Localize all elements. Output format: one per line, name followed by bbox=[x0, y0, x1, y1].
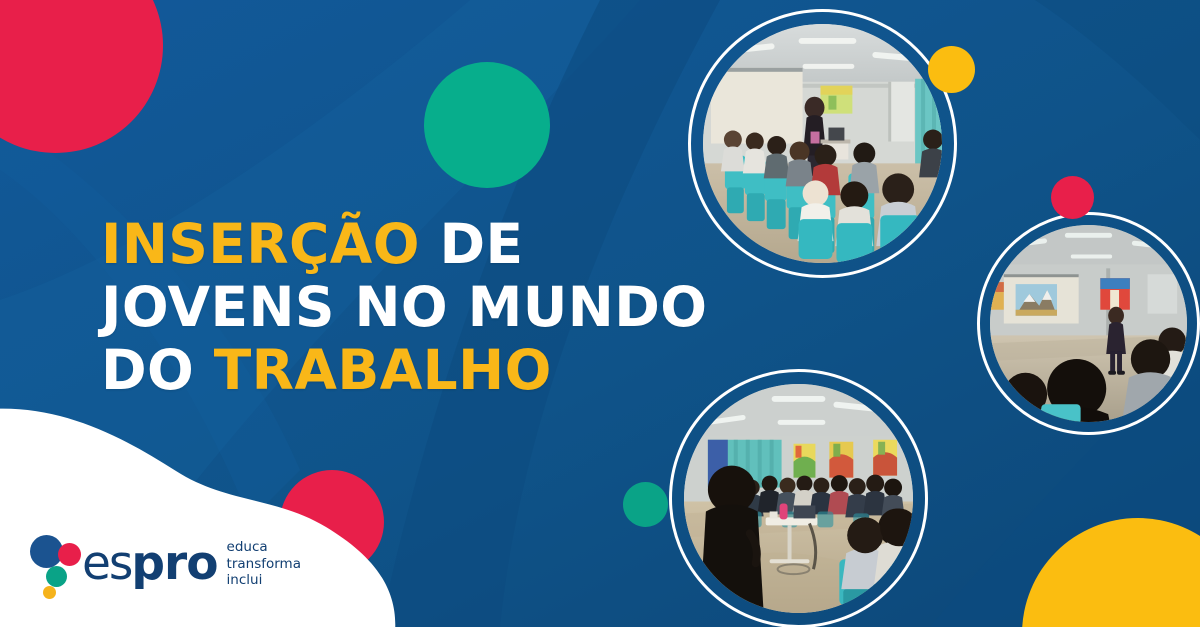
espro-logo-dots bbox=[30, 531, 86, 597]
espro-wordmark: espro bbox=[82, 542, 218, 585]
accent-dot-red bbox=[1051, 176, 1094, 219]
photo-circle-discussion bbox=[684, 384, 913, 613]
espro-logo[interactable]: espro educa transforma inclui bbox=[30, 531, 301, 597]
espro-tagline-educa: educa bbox=[227, 539, 301, 555]
headline-accent-insercao: INSERÇÃO bbox=[101, 212, 420, 276]
accent-dot-yellow bbox=[928, 46, 975, 93]
accent-dot-teal bbox=[623, 482, 668, 527]
espro-tagline: educa transforma inclui bbox=[227, 539, 301, 588]
headline-accent-trabalho: TRABALHO bbox=[214, 338, 552, 402]
headline-line-2: JOVENS NO MUNDO bbox=[101, 276, 707, 339]
logo-dot-teal-icon bbox=[46, 566, 67, 587]
circle-teal-top bbox=[424, 62, 550, 188]
espro-wordmark-light: es bbox=[82, 536, 131, 591]
espro-tagline-inclui: inclui bbox=[227, 572, 301, 588]
espro-wordmark-bold: pro bbox=[131, 536, 217, 591]
photo-projector-presentation bbox=[990, 225, 1187, 422]
page-title: INSERÇÃO DE JOVENS NO MUNDO DO TRABALHO bbox=[101, 213, 707, 402]
headline-do: DO bbox=[101, 338, 214, 402]
headline-line-3: DO TRABALHO bbox=[101, 339, 707, 402]
headline-line-1: INSERÇÃO DE bbox=[101, 213, 707, 276]
headline-de: DE bbox=[420, 212, 524, 276]
espro-tagline-transforma: transforma bbox=[227, 556, 301, 572]
photo-classroom-rows bbox=[703, 24, 942, 263]
logo-dot-red-icon bbox=[58, 543, 81, 566]
logo-dot-yellow-icon bbox=[43, 586, 56, 599]
promotional-banner: INSERÇÃO DE JOVENS NO MUNDO DO TRABALHO bbox=[0, 0, 1200, 627]
